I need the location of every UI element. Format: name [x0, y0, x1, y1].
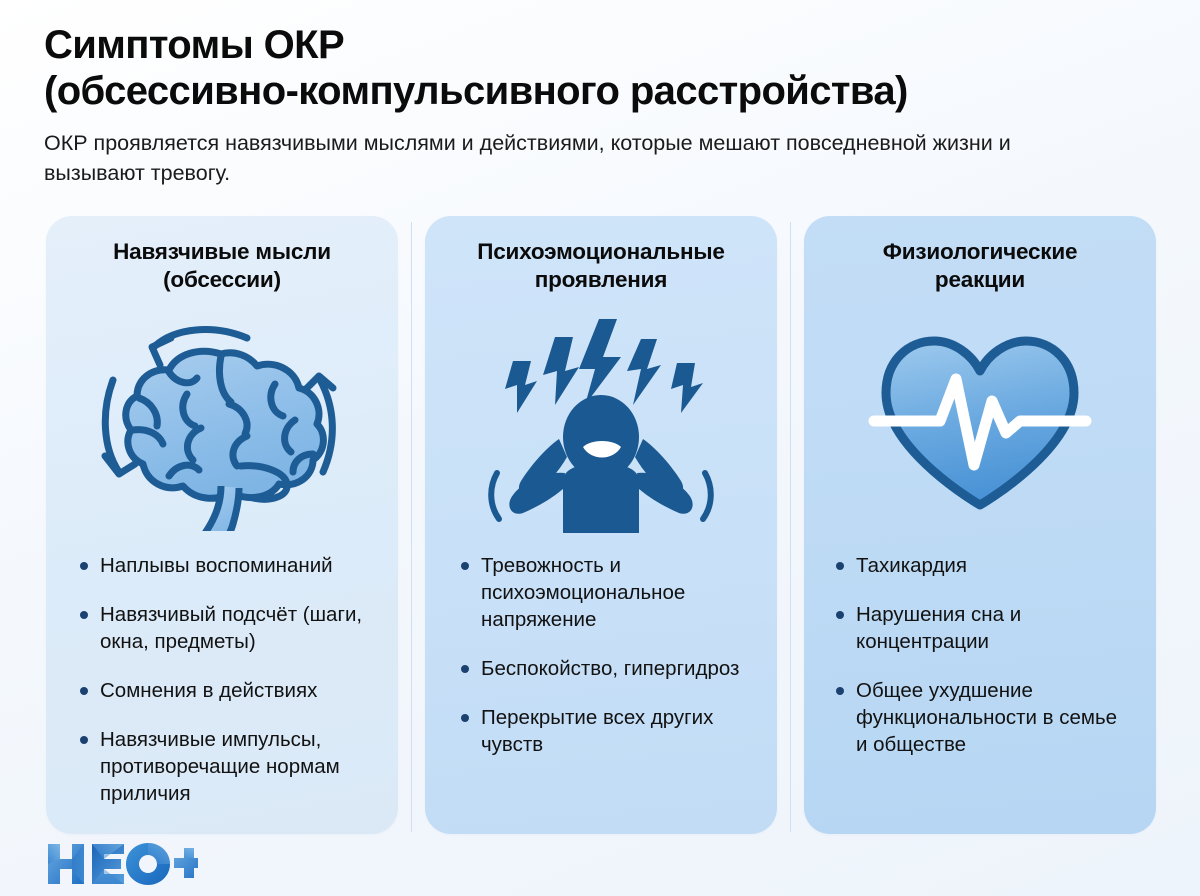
list-item: Навязчивые импульсы, противоречащие норм… — [80, 726, 372, 807]
bullet-text: Сомнения в действиях — [100, 679, 317, 702]
neo-plus-logo[interactable] — [46, 842, 198, 886]
card-divider-2 — [790, 222, 791, 832]
bullet-dot-icon — [461, 665, 469, 673]
symptom-cards-row: Навязчивые мысли (обсессии) — [46, 216, 1156, 834]
card-title-psychoemotional: Психоэмоциональные проявления — [447, 238, 755, 294]
card-title-physiological: Физиологические реакции — [826, 238, 1134, 294]
card-obsessive-thoughts: Навязчивые мысли (обсессии) — [46, 216, 398, 834]
bullet-text: Беспокойство, гипергидроз — [481, 657, 739, 680]
title-line-1: Симптомы ОКР — [44, 23, 344, 67]
bullet-text: Общее ухудшение функциональности в семье… — [856, 679, 1117, 756]
header: Симптомы ОКР (обсессивно-компульсивного … — [44, 22, 1164, 188]
bullet-text: Наплывы воспоминаний — [100, 554, 333, 577]
list-item: Нарушения сна и концентрации — [836, 601, 1130, 655]
bullet-dot-icon — [80, 562, 88, 570]
bullet-dot-icon — [461, 714, 469, 722]
stressed-person-icon — [447, 298, 755, 548]
list-item: Сомнения в действиях — [80, 677, 372, 704]
bullet-text: Навязчивые импульсы, противоречащие норм… — [100, 728, 340, 805]
list-item: Навязчивый подсчёт (шаги, окна, предметы… — [80, 601, 372, 655]
bullet-dot-icon — [461, 562, 469, 570]
bullet-text: Нарушения сна и концентрации — [856, 603, 1021, 653]
card-psychoemotional: Психоэмоциональные проявления — [425, 216, 777, 834]
card-1-title-line-2: (обсессии) — [163, 267, 281, 292]
list-item: Тахикардия — [836, 552, 1130, 579]
page-title: Симптомы ОКР (обсессивно-компульсивного … — [44, 22, 1164, 114]
list-item: Беспокойство, гипергидроз — [461, 655, 751, 682]
page-subtitle: ОКР проявляется навязчивыми мыслями и де… — [44, 128, 1074, 188]
list-item: Тревожность и психоэмоциональное напряже… — [461, 552, 751, 633]
bullet-dot-icon — [836, 687, 844, 695]
card-2-title-line-2: проявления — [535, 267, 668, 292]
bullet-dot-icon — [836, 611, 844, 619]
bullet-list-card-1: Наплывы воспоминаний Навязчивый подсчёт … — [68, 552, 376, 807]
bullet-text: Тахикардия — [856, 554, 967, 577]
heart-pulse-icon — [826, 298, 1134, 548]
bullet-dot-icon — [80, 736, 88, 744]
bullet-dot-icon — [80, 687, 88, 695]
bullet-text: Навязчивый подсчёт (шаги, окна, предметы… — [100, 603, 362, 653]
infographic-page: Симптомы ОКР (обсессивно-компульсивного … — [0, 0, 1200, 896]
card-title-obsessive-thoughts: Навязчивые мысли (обсессии) — [68, 238, 376, 294]
card-3-title-line-1: Физиологические — [883, 239, 1078, 264]
card-3-title-line-2: реакции — [935, 267, 1025, 292]
brain-loop-icon — [68, 298, 376, 548]
card-divider-1 — [411, 222, 412, 832]
list-item: Перекрытие всех других чувств — [461, 704, 751, 758]
bullet-text: Перекрытие всех других чувств — [481, 706, 713, 756]
list-item: Общее ухудшение функциональности в семье… — [836, 677, 1130, 758]
title-line-2: (обсессивно-компульсивного расстройства) — [44, 68, 1164, 114]
bullet-dot-icon — [836, 562, 844, 570]
list-item: Наплывы воспоминаний — [80, 552, 372, 579]
card-1-title-line-1: Навязчивые мысли — [113, 239, 331, 264]
card-physiological: Физиологические реакции — [804, 216, 1156, 834]
bullet-text: Тревожность и психоэмоциональное напряже… — [481, 554, 685, 631]
card-2-title-line-1: Психоэмоциональные — [477, 239, 725, 264]
bullet-list-card-2: Тревожность и психоэмоциональное напряже… — [447, 552, 755, 758]
bullet-list-card-3: Тахикардия Нарушения сна и концентрации … — [826, 552, 1134, 758]
bullet-dot-icon — [80, 611, 88, 619]
